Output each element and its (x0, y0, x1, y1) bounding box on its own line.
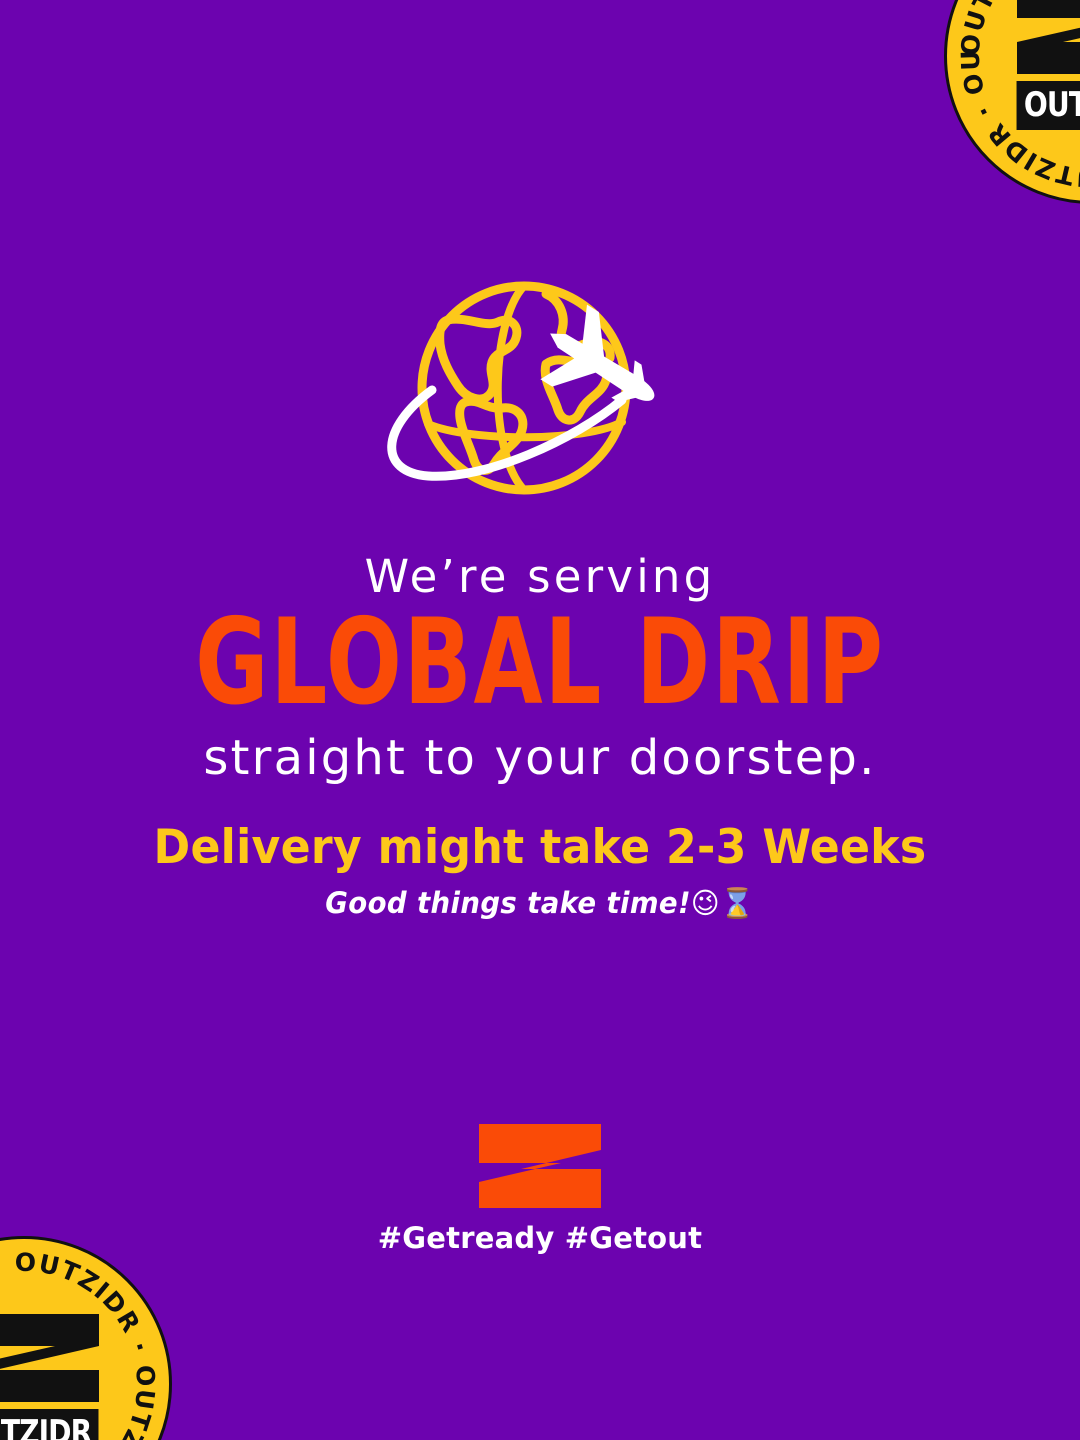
footer-block: #Getready #Getout (0, 1122, 1080, 1253)
footer-hashtags: #Getready #Getout (378, 1224, 702, 1253)
badge-wordmark: OUTZIDR (1017, 81, 1080, 130)
delivery-note-block: Delivery might take 2-3 Weeks Good thing… (0, 822, 1080, 920)
headline-block: We’re serving GLOBAL DRIP straight to yo… (0, 552, 1080, 785)
outzidr-z-logo (477, 1122, 603, 1210)
badge-wordmark: OUTZIDR (0, 1409, 99, 1440)
headline-line-2: GLOBAL DRIP (76, 601, 1005, 725)
outzidr-badge-top-right: OUTZIDR · OUTZIDR · OUTZIDR · OUTZIDR · … (944, 0, 1080, 204)
globe-illustration (0, 272, 1080, 512)
headline-line-3: straight to your doorstep. (0, 732, 1080, 786)
delivery-time-text: Delivery might take 2-3 Weeks (32, 822, 1047, 874)
delivery-sub-text: Good things take time! (325, 886, 691, 920)
outzidr-z-glyph (1011, 0, 1080, 78)
badge-core-bottom-left: OUTZIDR (0, 1310, 112, 1440)
badge-core-top-right: OUTZIDR (1004, 0, 1080, 130)
outzidr-z-glyph (0, 1310, 105, 1406)
poster-canvas: OUTZIDR · OUTZIDR · OUTZIDR · OUTZIDR · … (0, 0, 1080, 1440)
delivery-sub-line: Good things take time!😉⌛ (27, 888, 1053, 920)
wink-hourglass-emoji: 😉⌛ (691, 886, 755, 920)
outzidr-badge-bottom-left: OUTZIDR · OUTZIDR · OUTZIDR · OUTZIDR · … (0, 1236, 172, 1440)
globe-airplane-icon (370, 272, 710, 512)
